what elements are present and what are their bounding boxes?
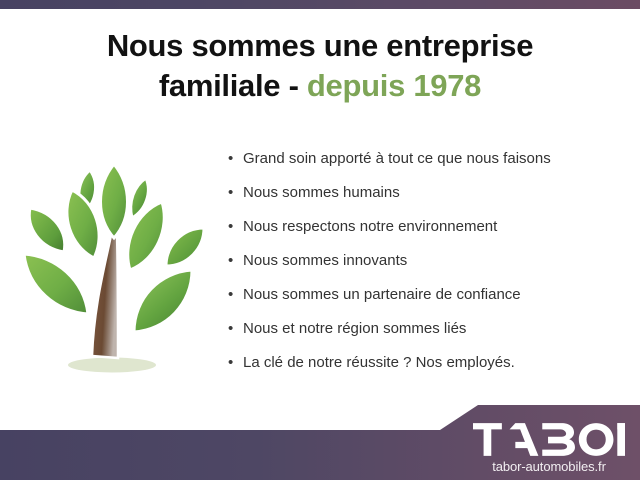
list-item-label: Nous sommes un partenaire de confiance (243, 284, 521, 306)
page-title: Nous sommes une entreprise familiale - d… (0, 26, 640, 106)
tree-illustration (14, 142, 214, 382)
list-item: • Grand soin apporté à tout ce que nous … (228, 148, 628, 182)
bullet-icon: • (228, 148, 243, 170)
list-item-label: La clé de notre réussite ? Nos employés. (243, 352, 515, 374)
headline-line-2: familiale - depuis 1978 (0, 66, 640, 106)
tree-icon (14, 142, 214, 382)
brand-logo[interactable]: tabor-automobiles.fr (466, 423, 632, 474)
list-item: • La clé de notre réussite ? Nos employé… (228, 352, 628, 386)
list-item-label: Nous sommes innovants (243, 250, 407, 272)
list-item: • Nous et notre région sommes liés (228, 318, 628, 352)
brand-website[interactable]: tabor-automobiles.fr (466, 459, 632, 474)
bullet-icon: • (228, 352, 243, 374)
list-item: • Nous sommes un partenaire de confiance (228, 284, 628, 318)
list-item-label: Nous respectons notre environnement (243, 216, 497, 238)
bullet-icon: • (228, 182, 243, 204)
headline-line-1: Nous sommes une entreprise (107, 28, 533, 63)
bullet-icon: • (228, 284, 243, 306)
brand-wordmark (466, 423, 632, 456)
bullet-icon: • (228, 216, 243, 238)
headline-line-2-plain: familiale - (159, 68, 307, 103)
value-list: • Grand soin apporté à tout ce que nous … (228, 148, 628, 386)
list-item: • Nous respectons notre environnement (228, 216, 628, 250)
tree-shadow (68, 358, 156, 373)
list-item-label: Nous et notre région sommes liés (243, 318, 466, 340)
list-item-label: Grand soin apporté à tout ce que nous fa… (243, 148, 551, 170)
list-item: • Nous sommes innovants (228, 250, 628, 284)
marketing-slide: Nous sommes une entreprise familiale - d… (0, 0, 640, 480)
headline-accent-text: depuis 1978 (307, 68, 481, 103)
tabor-wordmark-icon (473, 423, 625, 456)
list-item-label: Nous sommes humains (243, 182, 400, 204)
bullet-icon: • (228, 250, 243, 272)
brand-footer: tabor-automobiles.fr (0, 395, 640, 480)
bullet-icon: • (228, 318, 243, 340)
list-item: • Nous sommes humains (228, 182, 628, 216)
top-accent-bar (0, 0, 640, 9)
